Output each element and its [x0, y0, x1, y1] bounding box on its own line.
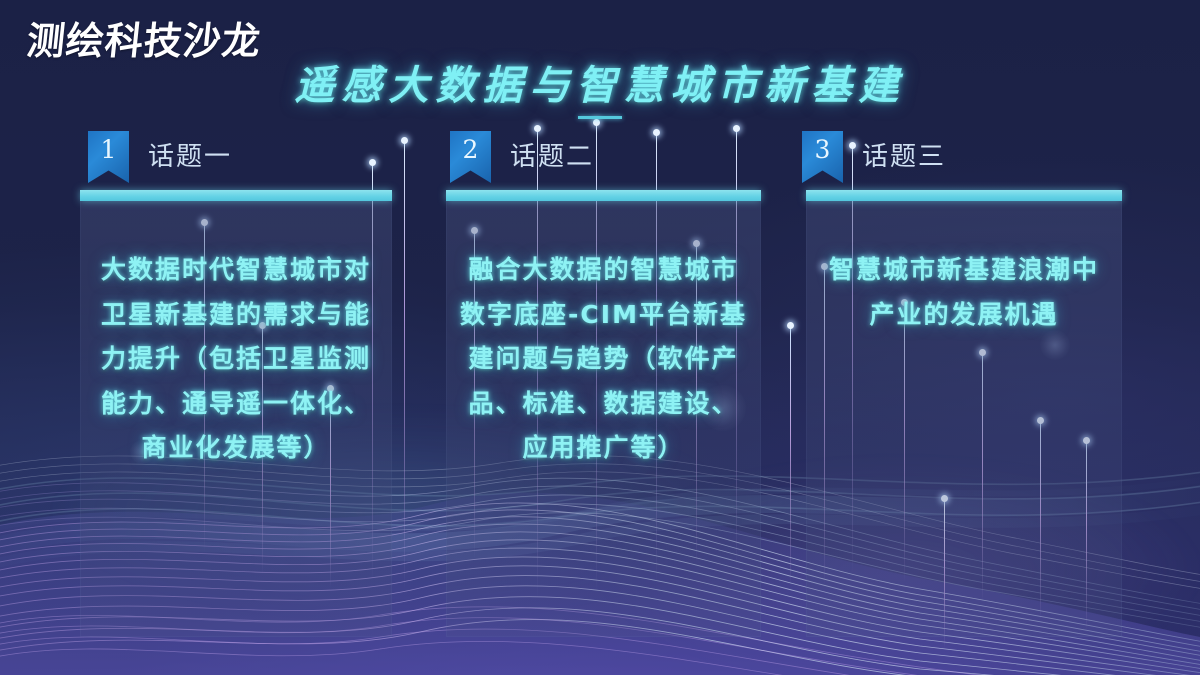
topic-badge-2: 2	[450, 131, 491, 183]
topic-card-accent-bar-2	[446, 190, 761, 201]
presentation-slide: 测绘科技沙龙 遥感大数据与智慧城市新基建 1 话题一 2 话题二 3 话题三 大…	[0, 0, 1200, 675]
brand-logo: 测绘科技沙龙	[25, 22, 263, 60]
topic-badge-3: 3	[802, 131, 843, 183]
topic-label-1: 话题一	[148, 136, 232, 173]
topic-card-2[interactable]: 融合大数据的智慧城市数字底座-CIM平台新基建问题与趋势（软件产品、标准、数据建…	[446, 190, 761, 637]
topic-card-1[interactable]: 大数据时代智慧城市对卫星新基建的需求与能力提升（包括卫星监测能力、通导遥一体化、…	[80, 190, 392, 637]
topic-badge-1: 1	[88, 131, 129, 183]
topic-label-3: 话题三	[862, 136, 946, 173]
topic-text-1: 大数据时代智慧城市对卫星新基建的需求与能力提升（包括卫星监测能力、通导遥一体化、…	[94, 248, 378, 471]
title-underline	[578, 116, 622, 119]
topic-number-3: 3	[802, 135, 843, 164]
topic-header-1: 1 话题一	[88, 131, 388, 183]
topic-number-2: 2	[450, 135, 491, 164]
topic-number-1: 1	[88, 135, 129, 164]
topic-header-3: 3 话题三	[802, 131, 1102, 183]
page-title: 遥感大数据与智慧城市新基建	[0, 64, 1200, 108]
topic-card-3[interactable]: 智慧城市新基建浪潮中产业的发展机遇	[806, 190, 1122, 637]
topic-card-accent-bar-3	[806, 190, 1122, 201]
topic-text-2: 融合大数据的智慧城市数字底座-CIM平台新基建问题与趋势（软件产品、标准、数据建…	[460, 248, 747, 471]
topic-label-2: 话题二	[510, 136, 594, 173]
topic-text-3: 智慧城市新基建浪潮中产业的发展机遇	[820, 248, 1108, 337]
topic-header-2: 2 话题二	[450, 131, 750, 183]
topic-card-accent-bar-1	[80, 190, 392, 201]
